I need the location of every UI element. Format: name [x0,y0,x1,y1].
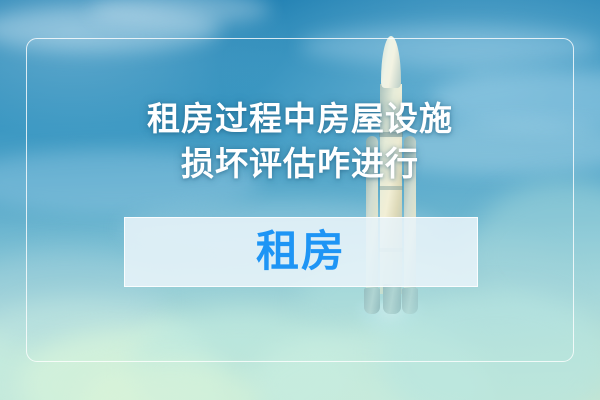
page-title-line-2: 损坏评估咋进行 [0,141,600,186]
page-title: 租房过程中房屋设施 损坏评估咋进行 [0,96,600,186]
keyword-badge-label: 租房 [256,231,346,274]
poster-canvas: 租房过程中房屋设施 损坏评估咋进行 租房 [0,0,600,400]
page-title-line-1: 租房过程中房屋设施 [0,96,600,141]
keyword-badge: 租房 [124,217,478,287]
atmospheric-haze [0,0,600,400]
